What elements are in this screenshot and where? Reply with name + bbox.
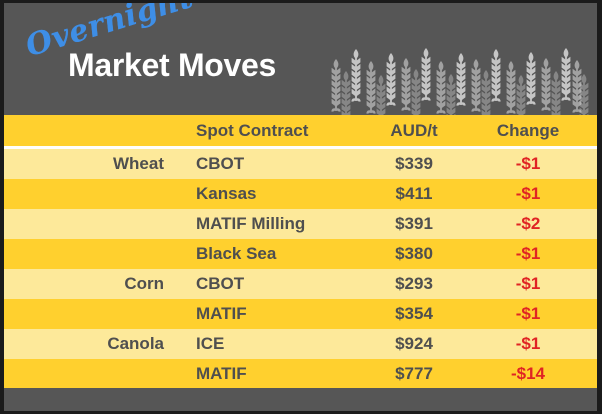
table-header-row: Spot Contract AUD/t Change: [4, 115, 597, 149]
cell-change: -$1: [469, 154, 587, 174]
cell-change: -$1: [469, 274, 587, 294]
table-row: Canola ICE $924 -$1: [4, 329, 597, 359]
cell-contract: ICE: [169, 334, 359, 354]
table-row: MATIF $777 -$14: [4, 359, 597, 389]
cell-price: $339: [359, 154, 469, 174]
cell-category: Wheat: [4, 154, 169, 174]
cell-change: -$14: [469, 364, 587, 384]
table-row: Wheat CBOT $339 -$1: [4, 149, 597, 179]
cell-price: $777: [359, 364, 469, 384]
column-header-contract: Spot Contract: [169, 121, 359, 141]
title-block: Overnight Market Moves: [22, 27, 342, 91]
cell-change: -$1: [469, 304, 587, 324]
cell-change: -$1: [469, 334, 587, 354]
cell-change: -$2: [469, 214, 587, 234]
cell-price: $380: [359, 244, 469, 264]
page-title: Market Moves: [68, 47, 276, 84]
cell-price: $924: [359, 334, 469, 354]
cell-price: $391: [359, 214, 469, 234]
cell-contract: Black Sea: [169, 244, 359, 264]
cell-change: -$1: [469, 244, 587, 264]
cell-contract: MATIF: [169, 364, 359, 384]
cell-category: Canola: [4, 334, 169, 354]
table-row: Kansas $411 -$1: [4, 179, 597, 209]
cell-price: $354: [359, 304, 469, 324]
cell-price: $293: [359, 274, 469, 294]
cell-category: Corn: [4, 274, 169, 294]
table-row: Corn CBOT $293 -$1: [4, 269, 597, 299]
cell-contract: CBOT: [169, 154, 359, 174]
cell-contract: MATIF Milling: [169, 214, 359, 234]
cell-contract: MATIF: [169, 304, 359, 324]
footer-band: [4, 388, 597, 411]
cell-contract: CBOT: [169, 274, 359, 294]
market-moves-table: Spot Contract AUD/t Change Wheat CBOT $3…: [4, 115, 597, 414]
column-header-change: Change: [469, 121, 587, 141]
cell-contract: Kansas: [169, 184, 359, 204]
market-moves-card: Overnight Market Moves: [0, 0, 602, 414]
table-row: Black Sea $380 -$1: [4, 239, 597, 269]
wheat-stalks-icon: [329, 43, 591, 115]
table-row: MATIF $354 -$1: [4, 299, 597, 329]
cell-change: -$1: [469, 184, 587, 204]
cell-price: $411: [359, 184, 469, 204]
card-header: Overnight Market Moves: [4, 3, 597, 115]
table-row: MATIF Milling $391 -$2: [4, 209, 597, 239]
column-header-price: AUD/t: [359, 121, 469, 141]
